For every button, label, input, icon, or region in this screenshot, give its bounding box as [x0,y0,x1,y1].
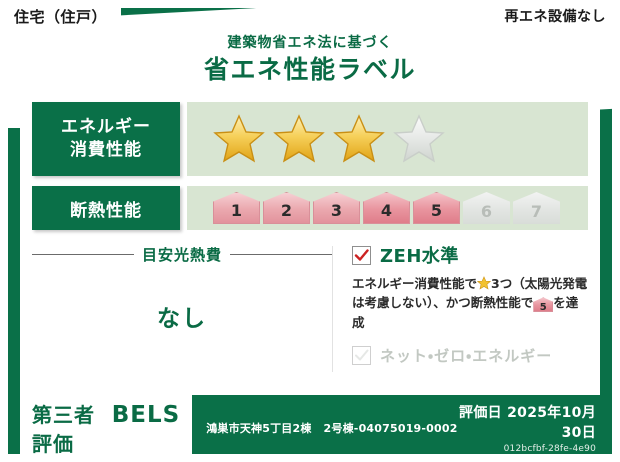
zeh-description: エネルギー消費性能で3つ（太陽光発電 は考慮しない）、かつ断熱性能で5を達成 [352,274,588,332]
utility-cost-value: なし [32,299,332,333]
third-party-eval-label: 第三者評価 [32,399,102,457]
renewable-equipment-tab: 再エネ設備なし [489,0,620,33]
rule-right [230,254,332,255]
building-type-tab: 住宅（住戸） [0,0,121,34]
energy-performance-row: エネルギー 消費性能 [32,102,588,176]
insulation-label-text: 断熱性能 [70,196,142,221]
property-address: 鴻巣市天神5丁目2棟2号棟-04075019-0002 [206,420,457,436]
energy-performance-value [187,102,588,176]
energy-performance-label: エネルギー 消費性能 [32,102,180,176]
evaluation-date-line: 評価日 2025年10月30日 [458,402,596,442]
insulation-badge-3: 3 [313,192,360,224]
zeh-status-line: ZEH水準 [352,242,588,268]
star-icon-filled-1 [213,114,265,164]
insulation-badge-2: 2 [263,192,310,224]
insulation-badge-1: 1 [213,192,260,224]
zeh-block: ZEH水準 エネルギー消費性能で3つ（太陽光発電 は考慮しない）、かつ断熱性能で… [332,242,588,382]
bels-logo: BELS [112,402,180,428]
evaluation-hash: 012bcfbf-28fe-4e90 [458,444,596,454]
utility-cost-block: 目安光熱費 なし [32,242,332,382]
address-text: 鴻巣市天神5丁目2棟 [206,422,311,435]
bels-energy-label: 住宅（住戸） 再エネ設備なし 建築物省エネ法に基づく 省エネ性能ラベル エネルギ… [0,0,620,462]
insulation-performance-label: 断熱性能 [32,186,180,230]
zeh-desc-part2: は考慮しない）、かつ断熱性能で [352,295,533,310]
rule-left [32,254,134,255]
insulation-performance-row: 断熱性能 1 2 3 4 5 6 7 [32,186,588,230]
star-rating [213,114,445,164]
energy-label-line2: 消費性能 [70,139,142,162]
star-icon-empty-4 [393,114,445,164]
unit-number: 2号棟-04075019-0002 [324,422,458,435]
net-zero-energy-label: ネット・ゼロ・エネルギー [380,345,552,366]
evaluation-info: 評価日 2025年10月30日 012bcfbf-28fe-4e90 [458,402,596,454]
bels-certification-plate: 第三者評価 BELS [20,394,192,462]
inline-star-icon [477,276,491,290]
utility-cost-heading: 目安光熱費 [32,244,332,265]
lower-section: 目安光熱費 なし ZEH水準 エネルギー消費性能で3つ（太陽光発電 は考 [32,242,588,382]
insulation-level-badges: 1 2 3 4 5 6 7 [213,192,560,224]
label-content-card: エネルギー 消費性能 [20,92,600,395]
utility-cost-title: 目安光熱費 [142,244,222,265]
title-subtitle: 建築物省エネ法に基づく [0,36,620,51]
insulation-badge-4: 4 [363,192,410,224]
check-icon-disabled [354,348,369,363]
insulation-performance-value: 1 2 3 4 5 6 7 [187,186,588,230]
zeh-title: ZEH水準 [380,242,459,268]
check-icon [354,248,369,263]
zeh-checkbox [352,246,371,265]
page-title: 省エネ性能ラベル [0,56,620,84]
inline-insulation-badge: 5 [533,297,553,312]
evaluation-date-label: 評価日 [459,405,502,421]
energy-label-line1: エネルギー [61,116,151,139]
star-icon-filled-2 [273,114,325,164]
evaluation-date-value: 2025年10月30日 [507,405,596,441]
insulation-badge-6: 6 [463,192,510,224]
insulation-badge-7: 7 [513,192,560,224]
label-footer: 第三者評価 BELS 鴻巣市天神5丁目2棟2号棟-04075019-0002 評… [8,402,612,454]
zeh-desc-part1: エネルギー消費性能で [352,276,477,291]
zeh-desc-stars: 3つ（太陽光発電 [491,276,587,291]
label-title-block: 建築物省エネ法に基づく 省エネ性能ラベル [0,36,620,84]
net-zero-energy-line: ネット・ゼロ・エネルギー [352,345,588,366]
insulation-badge-5: 5 [413,192,460,224]
star-icon-filled-3 [333,114,385,164]
net-zero-energy-checkbox [352,346,371,365]
